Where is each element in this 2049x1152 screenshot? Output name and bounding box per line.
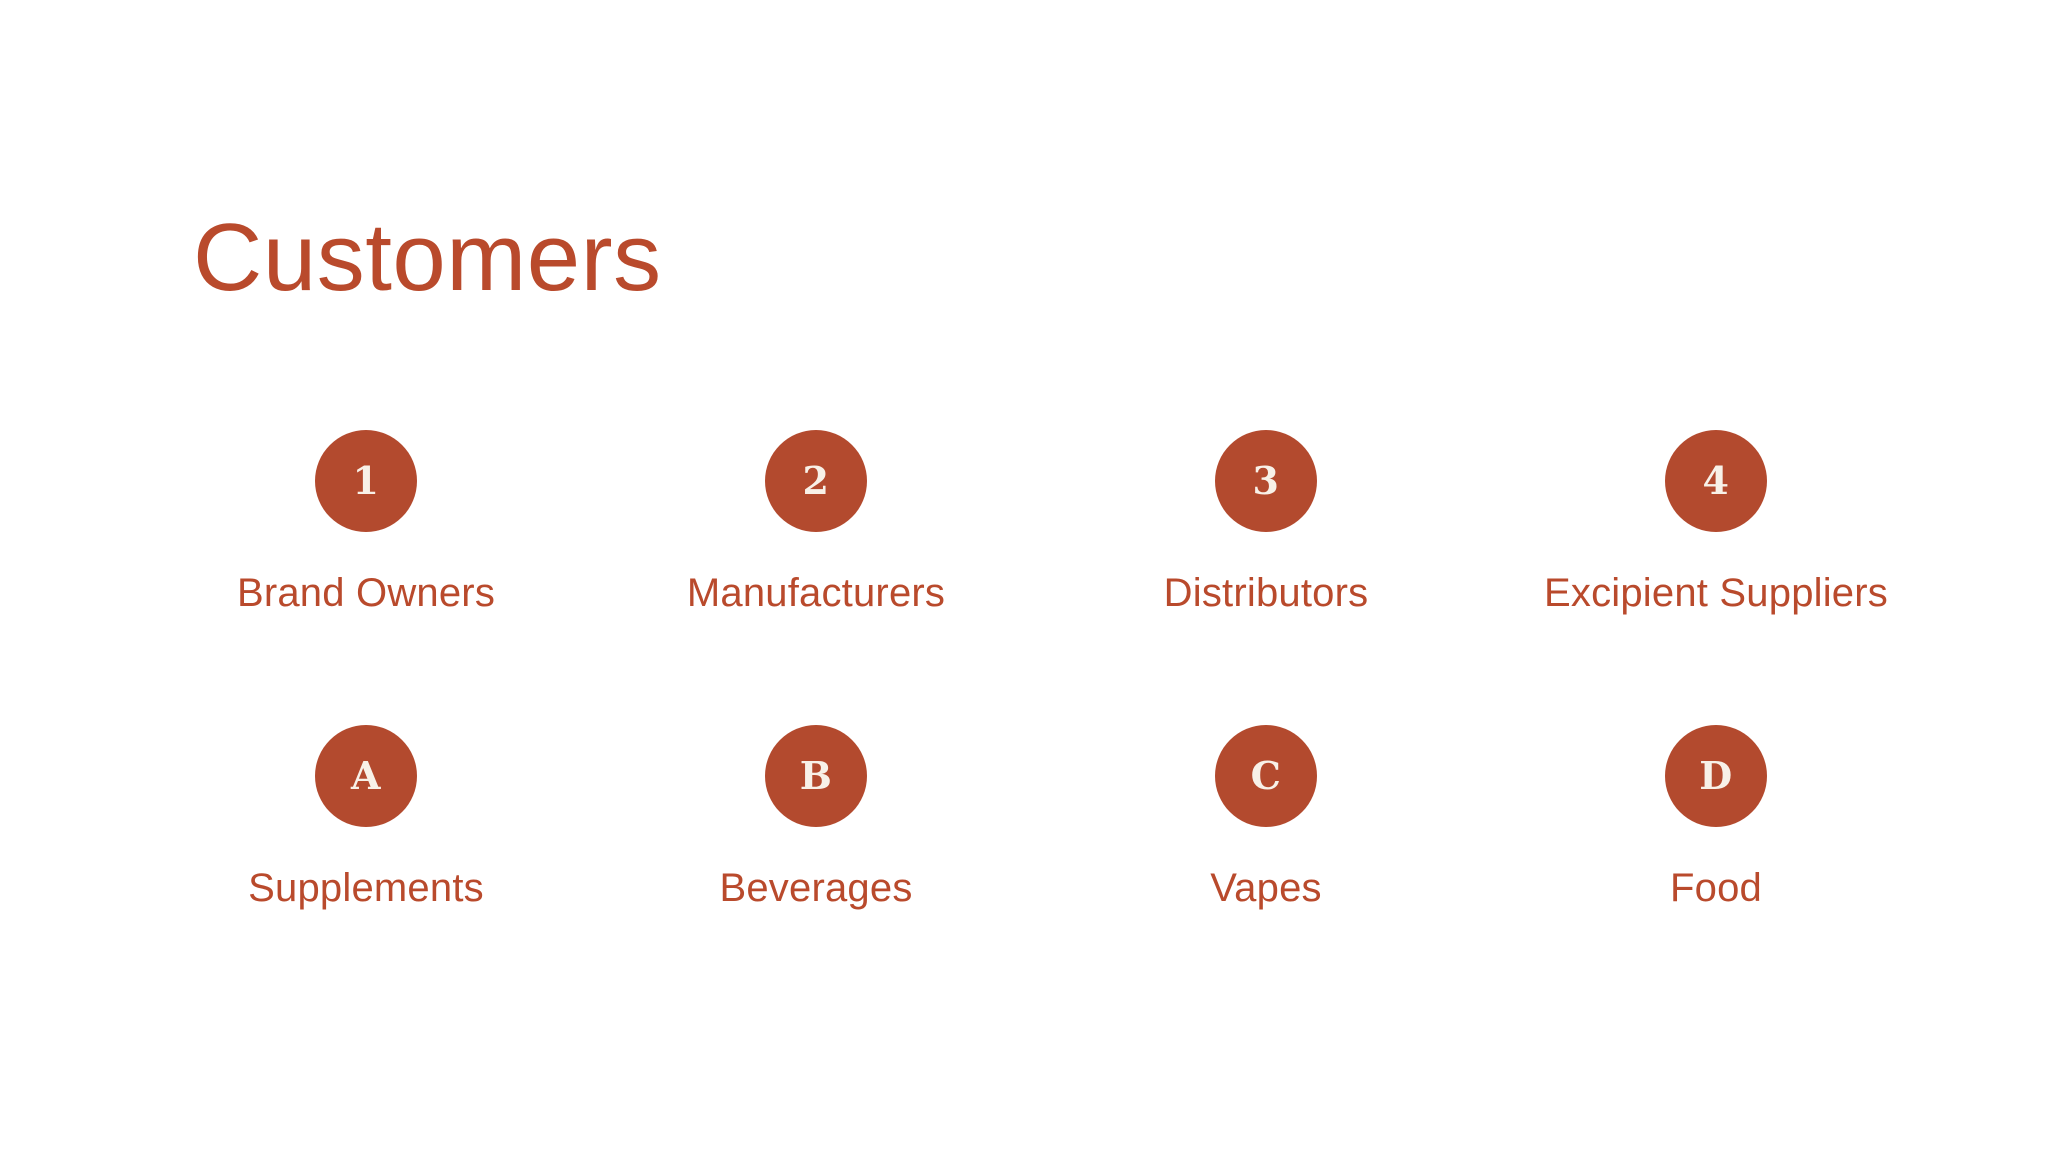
badge-label-3: 3 [1253, 462, 1280, 500]
badge-label-a: A [351, 757, 381, 795]
badge-label-b: B [800, 757, 833, 795]
badge-circle-d: D [1665, 725, 1767, 827]
badge-circle-1: 1 [315, 430, 417, 532]
segment-label-brand-owners: Brand Owners [237, 569, 495, 617]
segment-label-food: Food [1670, 864, 1762, 912]
segment-label-beverages: Beverages [719, 864, 912, 912]
segment-label-manufacturers: Manufacturers [687, 569, 945, 617]
segment-item-excipient-suppliers[interactable]: 4 Excipient Suppliers [1491, 430, 1941, 617]
segment-item-brand-owners[interactable]: 1 Brand Owners [141, 430, 591, 617]
segment-item-supplements[interactable]: A Supplements [141, 725, 591, 912]
badge-circle-4: 4 [1665, 430, 1767, 532]
badge-circle-2: 2 [765, 430, 867, 532]
segment-item-vapes[interactable]: C Vapes [1041, 725, 1491, 912]
segment-label-excipient-suppliers: Excipient Suppliers [1544, 569, 1888, 617]
badge-circle-3: 3 [1215, 430, 1317, 532]
badge-label-d: D [1699, 757, 1732, 795]
segment-label-distributors: Distributors [1164, 569, 1369, 617]
badge-label-4: 4 [1703, 462, 1730, 500]
badge-circle-b: B [765, 725, 867, 827]
badge-circle-c: C [1215, 725, 1317, 827]
product-categories-row: A Supplements B Beverages C Vapes D [141, 725, 1941, 912]
customer-segments-grid: 1 Brand Owners 2 Manufacturers 3 Distrib… [141, 430, 1941, 912]
segment-item-manufacturers[interactable]: 2 Manufacturers [591, 430, 1041, 617]
slide-canvas: Customers 1 Brand Owners 2 Manufacturers… [0, 0, 2049, 1152]
segment-item-beverages[interactable]: B Beverages [591, 725, 1041, 912]
badge-label-2: 2 [803, 462, 830, 500]
page-title: Customers [193, 205, 662, 311]
segment-label-vapes: Vapes [1210, 864, 1321, 912]
segment-label-supplements: Supplements [248, 864, 484, 912]
badge-label-1: 1 [353, 462, 380, 500]
segment-item-distributors[interactable]: 3 Distributors [1041, 430, 1491, 617]
segment-item-food[interactable]: D Food [1491, 725, 1941, 912]
customer-types-row: 1 Brand Owners 2 Manufacturers 3 Distrib… [141, 430, 1941, 617]
badge-label-c: C [1251, 757, 1282, 795]
badge-circle-a: A [315, 725, 417, 827]
